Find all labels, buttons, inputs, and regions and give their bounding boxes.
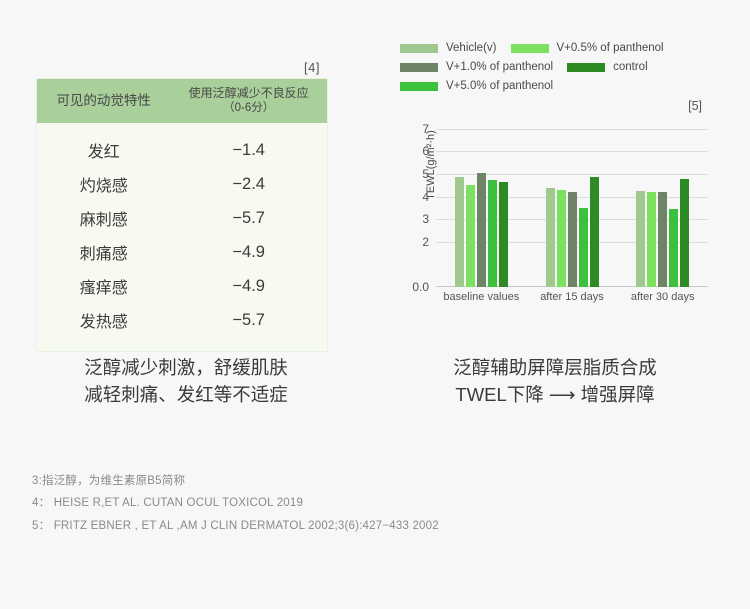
chart-y-tick-label: 7	[422, 122, 429, 136]
table-row: 瘙痒感 −4.9	[37, 269, 327, 303]
table-row: 刺痛感 −4.9	[37, 235, 327, 269]
legend-item: control	[567, 61, 648, 73]
caption-left: 泛醇减少刺激，舒缓肌肤 减轻刺痛、发红等不适症	[36, 355, 336, 409]
chart-panel: Vehicle(v) V+0.5% of panthenol V+1.0% of…	[400, 42, 720, 320]
chart-bar	[579, 208, 588, 287]
footnote-item: 5： FRITZ EBNER , ET AL ,AM J CLIN DERMAT…	[32, 515, 722, 537]
legend-label: V+5.0% of panthenol	[446, 80, 553, 92]
table-header-col2-main: 使用泛醇减少不良反应	[189, 86, 309, 100]
table-row: 麻刺感 −5.7	[37, 201, 327, 235]
footnote-item: 4： HEISE R,ET AL. CUTAN OCUL TOXICOL 201…	[32, 492, 722, 514]
legend-label: control	[613, 61, 648, 73]
chart-bar	[568, 192, 577, 287]
chart-y-tick-label: 3	[422, 212, 429, 226]
legend-label: Vehicle(v)	[446, 42, 497, 54]
chart-x-tick-label: after 30 days	[617, 291, 708, 303]
chart-y-tick-label: 6	[422, 144, 429, 158]
table-row: 发红 −1.4	[37, 133, 327, 167]
table-header-col2-sub: （0-6分）	[170, 101, 327, 115]
table-cell-label: 灼烧感	[37, 172, 170, 196]
chart-y-tick-label: 5	[422, 167, 429, 181]
legend-swatch-icon	[400, 44, 438, 53]
table-header-col1: 可见的动觉特性	[37, 93, 170, 110]
table-cell-value: −5.7	[170, 209, 327, 228]
chart-bar-group	[527, 121, 618, 287]
caption-left-line2: 减轻刺痛、发红等不适症	[36, 382, 336, 409]
table-cell-label: 刺痛感	[37, 240, 170, 264]
table-cell-value: −2.4	[170, 175, 327, 194]
legend-row: V+1.0% of panthenol control	[400, 61, 718, 73]
legend-swatch-icon	[400, 63, 438, 72]
legend-item: V+5.0% of panthenol	[400, 80, 553, 92]
table-cell-value: −4.9	[170, 277, 327, 296]
chart-reference-marker: [5]	[400, 99, 720, 113]
caption-right-line2: TWEL下降 ⟶ 增强屏障	[400, 382, 710, 409]
chart-y-tick-label: 2	[422, 235, 429, 249]
chart-bar	[636, 191, 645, 287]
table-cell-label: 瘙痒感	[37, 274, 170, 298]
footnotes: 3:指泛醇，为维生素原B5简称 4： HEISE R,ET AL. CUTAN …	[32, 470, 722, 537]
chart-bar	[466, 185, 475, 287]
table-header-row: 可见的动觉特性 使用泛醇减少不良反应 （0-6分）	[37, 79, 327, 123]
table-cell-value: −1.4	[170, 141, 327, 160]
legend-row: Vehicle(v) V+0.5% of panthenol	[400, 42, 718, 54]
table-row: 发热感 −5.7	[37, 303, 327, 337]
caption-left-line1: 泛醇减少刺激，舒缓肌肤	[36, 355, 336, 382]
chart-bar	[455, 177, 464, 287]
legend-swatch-icon	[567, 63, 605, 72]
chart-bar	[658, 192, 667, 287]
infographic-slide: [4] 可见的动觉特性 使用泛醇减少不良反应 （0-6分） 发红 −1.4 灼烧…	[0, 0, 750, 609]
caption-right-line1: 泛醇辅助屏障层脂质合成	[400, 355, 710, 382]
table-cell-value: −4.9	[170, 243, 327, 262]
legend-label: V+1.0% of panthenol	[446, 61, 553, 73]
table-cell-value: −5.7	[170, 311, 327, 330]
table-cell-label: 发热感	[37, 308, 170, 332]
chart-plot-area: TEWL(g/m²·h) 0.0234567 baseline valuesaf…	[400, 115, 720, 320]
footnote-item: 3:指泛醇，为维生素原B5简称	[32, 470, 722, 492]
chart-legend: Vehicle(v) V+0.5% of panthenol V+1.0% of…	[400, 42, 718, 92]
legend-row: V+5.0% of panthenol	[400, 80, 718, 92]
chart-x-tick-label: after 15 days	[527, 291, 618, 303]
chart-bar	[647, 192, 656, 287]
legend-label: V+0.5% of panthenol	[557, 42, 664, 54]
sensory-attributes-table: 可见的动觉特性 使用泛醇减少不良反应 （0-6分） 发红 −1.4 灼烧感 −2…	[36, 78, 328, 352]
chart-bar	[477, 173, 486, 287]
chart-bar	[557, 190, 566, 287]
legend-swatch-icon	[511, 44, 549, 53]
legend-item: Vehicle(v)	[400, 42, 497, 54]
table-reference-marker: [4]	[36, 58, 348, 78]
chart-y-tick-label: 0.0	[412, 280, 429, 294]
legend-item: V+1.0% of panthenol	[400, 61, 553, 73]
chart-bar-group	[617, 121, 708, 287]
chart-bar-group	[436, 121, 527, 287]
legend-swatch-icon	[400, 82, 438, 91]
chart-bar-groups	[436, 121, 708, 287]
chart-x-tick-label: baseline values	[436, 291, 527, 303]
table-row: 灼烧感 −2.4	[37, 167, 327, 201]
table-header-col2: 使用泛醇减少不良反应 （0-6分）	[170, 86, 327, 115]
chart-y-tick-label: 4	[422, 190, 429, 204]
chart-bar	[669, 209, 678, 287]
table-body: 发红 −1.4 灼烧感 −2.4 麻刺感 −5.7 刺痛感 −4.9 瘙痒感	[37, 123, 327, 351]
table-panel: [4] 可见的动觉特性 使用泛醇减少不良反应 （0-6分） 发红 −1.4 灼烧…	[36, 58, 348, 352]
chart-bar	[499, 182, 508, 287]
table-cell-label: 发红	[37, 138, 170, 162]
table-cell-label: 麻刺感	[37, 206, 170, 230]
chart-bar	[590, 177, 599, 287]
chart-bar	[546, 188, 555, 287]
chart-canvas: 0.0234567 baseline valuesafter 15 daysaf…	[436, 121, 708, 287]
legend-item: V+0.5% of panthenol	[511, 42, 664, 54]
caption-right: 泛醇辅助屏障层脂质合成 TWEL下降 ⟶ 增强屏障	[400, 355, 710, 409]
chart-bar	[488, 180, 497, 287]
chart-bar	[680, 179, 689, 287]
